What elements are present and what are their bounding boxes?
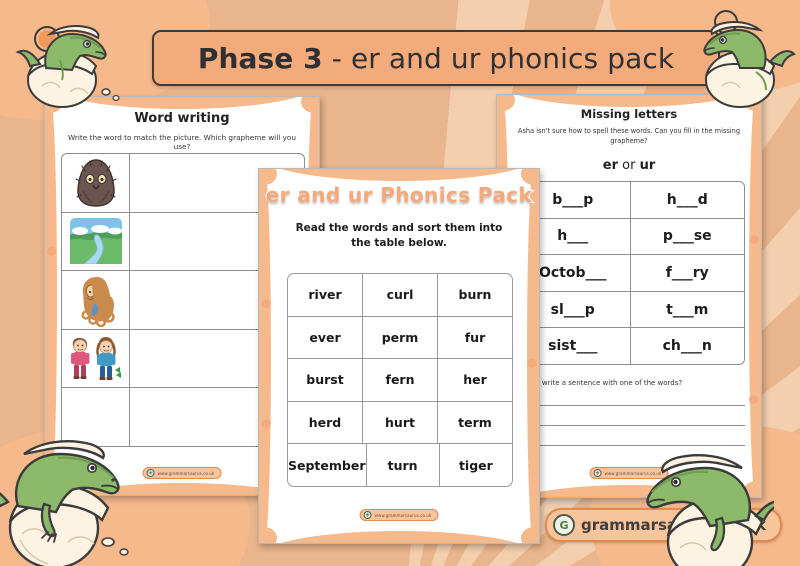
worksheet-phonics-pack-cover[interactable]: er and ur Phonics Pack Read the words an… [258, 168, 540, 544]
river-landscape-icon [70, 218, 122, 264]
word-cell[interactable]: turn [367, 444, 440, 486]
grapheme-or: or [618, 158, 640, 173]
poster-title-bold: Phase 3 [198, 42, 323, 75]
mole-fur-icon [73, 157, 119, 209]
grammarsaurus-leaf-icon: ◈ [147, 469, 155, 477]
word-sort-table: river curl burn ever perm fur burst fern… [287, 273, 513, 487]
hatching-dinosaur-icon [624, 426, 774, 566]
word-writing-heading: Word writing [45, 111, 319, 126]
word-cell[interactable]: September [288, 444, 367, 486]
table-row: river curl burn [288, 274, 512, 317]
missing-word-cell[interactable]: p___se [631, 219, 745, 255]
word-cell[interactable]: her [438, 359, 512, 401]
missing-word-cell[interactable]: ch___n [631, 328, 745, 364]
word-cell[interactable]: perm [363, 317, 438, 359]
grammarsaurus-watermark: ◈ www.grammarsaurus.co.uk [360, 509, 439, 521]
word-cell[interactable]: curl [363, 274, 438, 316]
picture-cell [62, 154, 130, 212]
table-row: September turn tiger [288, 444, 512, 486]
missing-letters-table: b___p h___d h___ p___se Octob___ f___ry … [515, 181, 745, 365]
table-row: burst fern her [288, 359, 512, 402]
watermark-url: www.grammarsaurus.co.uk [375, 513, 432, 518]
missing-word-cell[interactable]: h___d [631, 182, 745, 218]
hatching-dinosaur-icon [4, 0, 124, 108]
word-cell[interactable]: herd [288, 402, 363, 444]
table-row: sist___ ch___n [516, 328, 744, 364]
hatching-dinosaur-icon [678, 0, 798, 108]
word-cell[interactable]: tiger [440, 444, 512, 486]
missing-letters-heading: Missing letters [497, 107, 761, 121]
poster-canvas: Phase 3 - er and ur phonics pack Word wr… [0, 0, 800, 566]
table-row: Octob___ f___ry [516, 255, 744, 292]
word-cell[interactable]: burst [288, 359, 363, 401]
hatching-dinosaur-icon [0, 410, 146, 566]
girl-curls-icon [73, 273, 119, 327]
grammarsaurus-leaf-icon: ◈ [594, 469, 602, 477]
word-cell[interactable]: ever [288, 317, 363, 359]
watermark-url: www.grammarsaurus.co.uk [158, 471, 215, 476]
grapheme-er: er [603, 158, 618, 173]
sentence-prompt: Can you write a sentence with one of the… [511, 379, 745, 387]
word-writing-instruction: Write the word to match the picture. Whi… [59, 133, 305, 152]
word-cell[interactable]: term [438, 402, 512, 444]
poster-title-rest: - er and ur phonics pack [323, 42, 674, 75]
missing-letters-instruction: Asha isn't sure how to spell these words… [513, 127, 745, 146]
grammarsaurus-watermark: ◈ www.grammarsaurus.co.uk [143, 467, 222, 479]
grapheme-ur: ur [640, 158, 656, 173]
table-row: herd hurt term [288, 402, 512, 445]
poster-title-banner: Phase 3 - er and ur phonics pack [152, 30, 720, 86]
writing-line[interactable] [511, 405, 745, 406]
table-row: b___p h___d [516, 182, 744, 219]
picture-cell [62, 271, 130, 329]
table-row: h___ p___se [516, 219, 744, 256]
picture-cell [62, 330, 130, 388]
two-children-icon [68, 334, 124, 384]
word-cell[interactable]: fur [438, 317, 512, 359]
table-row: ever perm fur [288, 317, 512, 360]
grammarsaurus-logo-icon: G [553, 514, 575, 536]
word-cell[interactable]: fern [363, 359, 438, 401]
word-cell[interactable]: burn [438, 274, 512, 316]
pack-instruction: Read the words and sort them into the ta… [285, 221, 513, 251]
table-row: sl___p t___m [516, 292, 744, 329]
pack-title: er and ur Phonics Pack [259, 183, 539, 207]
poster-title: Phase 3 - er and ur phonics pack [198, 42, 674, 75]
picture-cell [62, 213, 130, 271]
missing-word-cell[interactable]: t___m [631, 292, 745, 328]
word-cell[interactable]: hurt [363, 402, 438, 444]
word-cell[interactable]: river [288, 274, 363, 316]
grammarsaurus-leaf-icon: ◈ [364, 511, 372, 519]
missing-word-cell[interactable]: f___ry [631, 255, 745, 291]
